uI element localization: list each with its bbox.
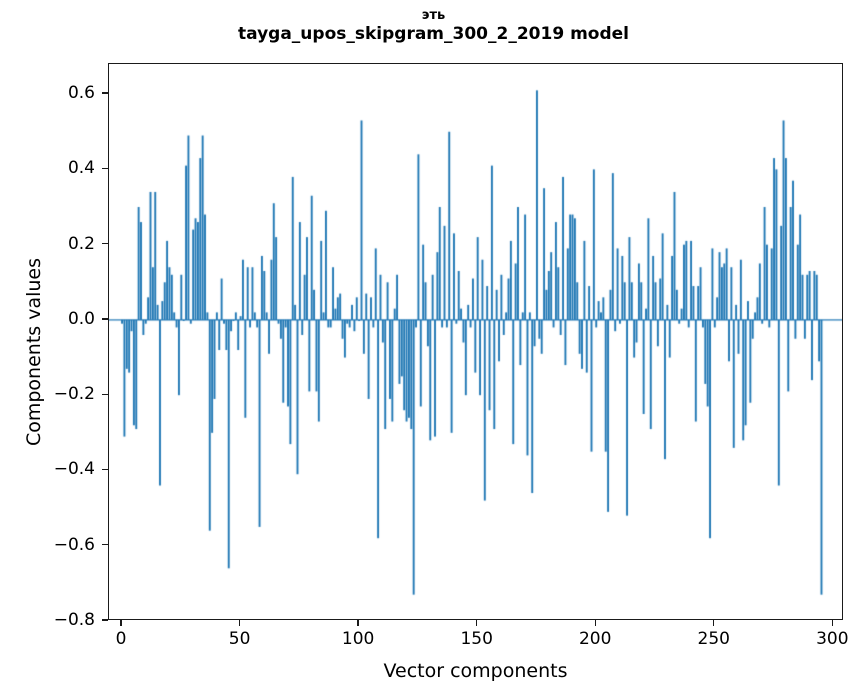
y-tick-label: 0.6 xyxy=(0,83,95,103)
y-tick-label: 0.4 xyxy=(0,158,95,178)
y-tick-mark xyxy=(102,619,108,620)
x-tick-mark xyxy=(239,620,240,626)
y-tick-mark xyxy=(102,318,108,319)
x-tick-mark xyxy=(357,620,358,626)
x-tick-mark xyxy=(476,620,477,626)
x-tick-label: 150 xyxy=(460,629,492,649)
y-tick-mark xyxy=(102,92,108,93)
y-axis-label: Components values xyxy=(23,152,45,552)
y-tick-label: 0.2 xyxy=(0,234,95,254)
y-tick-mark xyxy=(102,394,108,395)
y-tick-mark xyxy=(102,243,108,244)
y-tick-mark xyxy=(102,469,108,470)
x-tick-label: 50 xyxy=(229,629,251,649)
x-tick-mark xyxy=(595,620,596,626)
y-tick-label: −0.2 xyxy=(0,384,95,404)
x-tick-label: 100 xyxy=(342,629,374,649)
x-tick-mark xyxy=(713,620,714,626)
y-tick-label: −0.6 xyxy=(0,535,95,555)
x-tick-mark xyxy=(832,620,833,626)
y-tick-mark xyxy=(102,168,108,169)
y-tick-label: 0.0 xyxy=(0,309,95,329)
x-tick-label: 300 xyxy=(816,629,848,649)
x-tick-mark xyxy=(120,620,121,626)
chart-title-line-2: tayga_upos_skipgram_300_2_2019 model xyxy=(0,24,867,45)
bar-series-canvas xyxy=(109,64,843,620)
x-axis-label: Vector components xyxy=(108,660,843,682)
x-tick-label: 250 xyxy=(698,629,730,649)
x-tick-label: 200 xyxy=(579,629,611,649)
plot-axes xyxy=(108,63,843,620)
y-tick-label: −0.4 xyxy=(0,459,95,479)
x-tick-label: 0 xyxy=(116,629,127,649)
y-tick-label: −0.8 xyxy=(0,610,95,630)
matplotlib-figure: эть tayga_upos_skipgram_300_2_2019 model… xyxy=(0,0,867,696)
chart-title-line-1: эть xyxy=(0,8,867,24)
chart-title: эть tayga_upos_skipgram_300_2_2019 model xyxy=(0,8,867,45)
y-tick-mark xyxy=(102,544,108,545)
